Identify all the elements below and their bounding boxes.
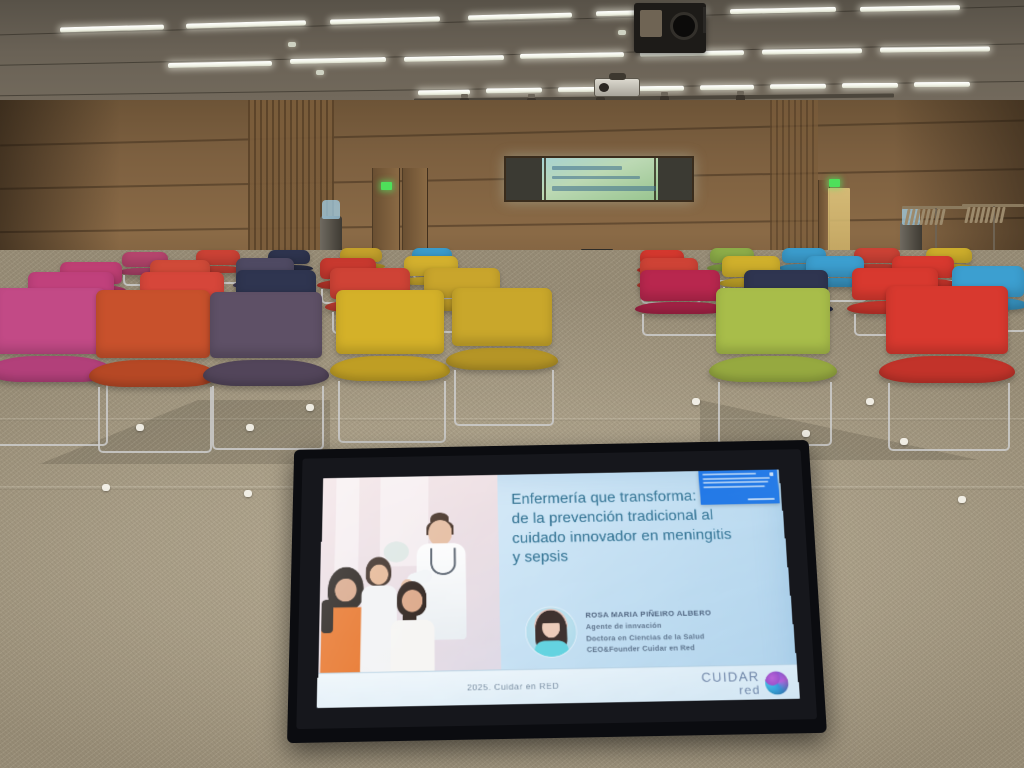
- brand-name-bottom: red: [739, 684, 761, 697]
- screen-text-band: [552, 176, 640, 179]
- linear-light: [700, 85, 754, 91]
- chair: [640, 270, 720, 320]
- floor-marker: [244, 490, 252, 497]
- coat-hangers: [966, 207, 1004, 223]
- floor-marker: [306, 404, 314, 411]
- linear-light: [762, 48, 862, 54]
- screen-text-band: [552, 166, 622, 170]
- child-body: [390, 619, 434, 673]
- linear-light: [168, 61, 272, 68]
- brand-wordmark: CUIDAR red: [701, 670, 761, 697]
- brand-logo: CUIDAR red: [701, 669, 790, 697]
- camera-lens-icon: [670, 12, 698, 40]
- monitor-bezel: 2025 Nurse in white coat with stethoscop…: [296, 449, 817, 729]
- chair: [210, 292, 322, 402]
- slide-photo: Nurse in white coat with stethoscope tal…: [318, 475, 501, 674]
- screen-divider: [654, 158, 656, 200]
- brand-sphere-icon: [764, 671, 789, 695]
- chair: [886, 286, 1008, 400]
- linear-light: [914, 82, 970, 87]
- floor-marker: [692, 398, 700, 405]
- door[interactable]: [402, 168, 428, 256]
- nurse-head: [428, 520, 451, 546]
- stethoscope-icon: [430, 548, 456, 575]
- linear-light: [860, 5, 960, 12]
- linear-light: [520, 52, 624, 59]
- camera-body: [640, 10, 662, 37]
- camera-mount-arm: [703, 7, 716, 33]
- child-ponytail: [321, 600, 334, 633]
- chair: [716, 288, 830, 398]
- avatar: [526, 607, 577, 657]
- photo-child: [390, 581, 436, 674]
- exit-sign-icon: [381, 182, 392, 190]
- conference-room-photo: 2025 Nurse in white coat with stethoscop…: [0, 0, 1024, 768]
- monitor-shell: 2025 Nurse in white coat with stethoscop…: [287, 440, 827, 743]
- downlight: [316, 70, 324, 75]
- linear-light: [290, 57, 386, 64]
- water-jug: [322, 200, 340, 219]
- exit-sign-icon: [829, 179, 840, 187]
- footer-copyright: 2025. Cuidar en RED: [467, 681, 559, 693]
- floor-marker: [246, 424, 254, 431]
- linear-light: [404, 55, 504, 62]
- downlight: [618, 30, 626, 35]
- downlight: [288, 42, 296, 47]
- screen-dark-panel: [658, 158, 692, 200]
- coat-hangers: [906, 209, 944, 225]
- screen-dark-panel: [506, 158, 542, 200]
- chair: [452, 288, 552, 384]
- notification-text-line: [703, 481, 768, 484]
- slide-photo-alt: Nurse in white coat with stethoscope tal…: [322, 477, 323, 478]
- wall-mounted-display: [504, 156, 694, 202]
- chair: [0, 288, 106, 398]
- chair: [336, 290, 444, 396]
- screen-text-band: [552, 186, 656, 191]
- notification-text-line: [702, 473, 756, 476]
- ceiling-camera-rig: [634, 3, 706, 53]
- avatar-shirt: [534, 640, 569, 657]
- presentation-monitor[interactable]: 2025 Nurse in white coat with stethoscop…: [281, 423, 827, 743]
- brand-name-top: CUIDAR: [701, 670, 760, 684]
- linear-light: [770, 84, 826, 89]
- author-credentials: ROSA MARIA PIÑEIRO ALBERO Agente de innv…: [585, 607, 787, 655]
- slide-title: Enfermería que transforma: de la prevenc…: [511, 486, 779, 569]
- floor-marker: [136, 424, 144, 431]
- notification-text-line: [703, 477, 770, 480]
- ceiling-projector: [594, 78, 640, 97]
- close-icon[interactable]: [769, 472, 773, 476]
- chair: [96, 290, 210, 402]
- presentation-slide: Nurse in white coat with stethoscope tal…: [317, 470, 800, 708]
- slide-title-line: y sepsis: [512, 544, 779, 569]
- linear-light: [880, 46, 990, 52]
- linear-light: [842, 83, 898, 88]
- floor-marker: [102, 484, 110, 491]
- floor-marker: [900, 438, 908, 445]
- floor-marker: [866, 398, 874, 405]
- avatar-fringe: [540, 615, 562, 623]
- floor-marker: [958, 496, 966, 503]
- screen-divider: [544, 158, 546, 200]
- linear-light: [486, 88, 542, 94]
